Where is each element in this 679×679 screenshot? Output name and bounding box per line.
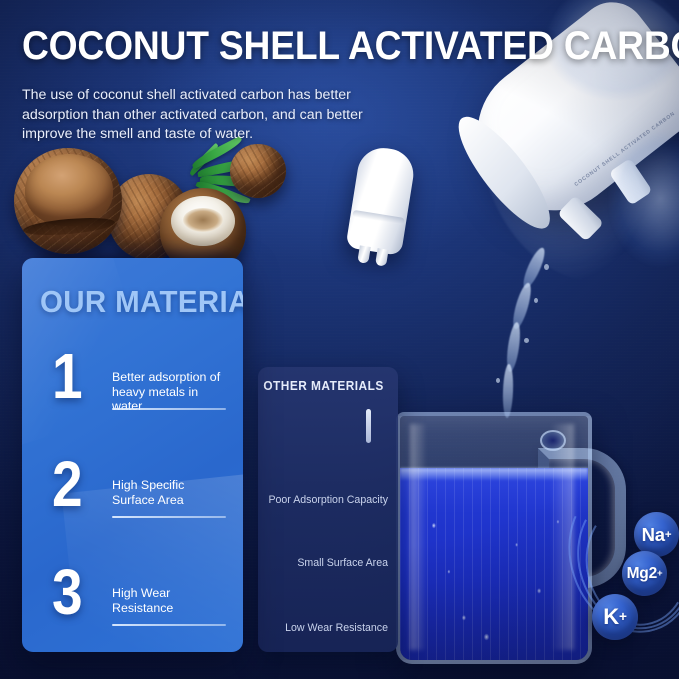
item-underline: [112, 624, 226, 626]
page-title: COCONUT SHELL ACTIVATED CARBON: [22, 24, 617, 68]
item-number: 2: [52, 452, 83, 516]
our-materials-item-2: 2 High Specific Surface Area: [40, 458, 228, 534]
our-materials-item-3: 3 High Wear Resistance: [40, 566, 228, 642]
page-subtitle: The use of coconut shell activated carbo…: [22, 86, 394, 145]
coconut-cluster-image: [8, 142, 308, 272]
coconut-inner-shell: [25, 154, 113, 226]
ion-badge-magnesium: Mg2+: [622, 551, 667, 596]
item-underline: [112, 516, 226, 518]
our-materials-heading: OUR MATERIALS: [40, 284, 243, 320]
item-underline: [112, 408, 226, 410]
ion-badge-potassium: K+: [592, 594, 638, 640]
our-materials-item-1: 1 Better adsorption of heavy metals in w…: [40, 350, 228, 426]
coconut-cavity: [183, 208, 223, 232]
other-materials-item: Low Wear Resistance: [262, 622, 388, 635]
other-materials-panel: OTHER MATERIALS Poor Adsorption Capacity…: [258, 367, 398, 652]
other-materials-heading: OTHER MATERIALS: [264, 379, 384, 393]
ion-symbol: Na: [642, 524, 665, 546]
ion-symbol: K: [603, 604, 619, 630]
item-number: 1: [52, 344, 83, 408]
small-filter-nozzle: [375, 248, 389, 267]
item-label: High Specific Surface Area: [112, 478, 230, 507]
small-filter-nozzle: [357, 245, 371, 264]
item-number: 3: [52, 560, 83, 624]
coconut-opened: [14, 148, 122, 254]
ion-symbol: Mg2: [627, 565, 657, 583]
other-materials-accent-bar: [366, 409, 371, 443]
item-label: High Wear Resistance: [112, 586, 230, 615]
our-materials-card: OUR MATERIALS 1 Better adsorption of hea…: [22, 258, 243, 652]
other-materials-item: Poor Adsorption Capacity: [262, 494, 388, 507]
product-infographic: COCONUT SHELL ACTIVATED CARBON: [0, 0, 679, 679]
other-materials-item: Small Surface Area: [262, 557, 388, 570]
